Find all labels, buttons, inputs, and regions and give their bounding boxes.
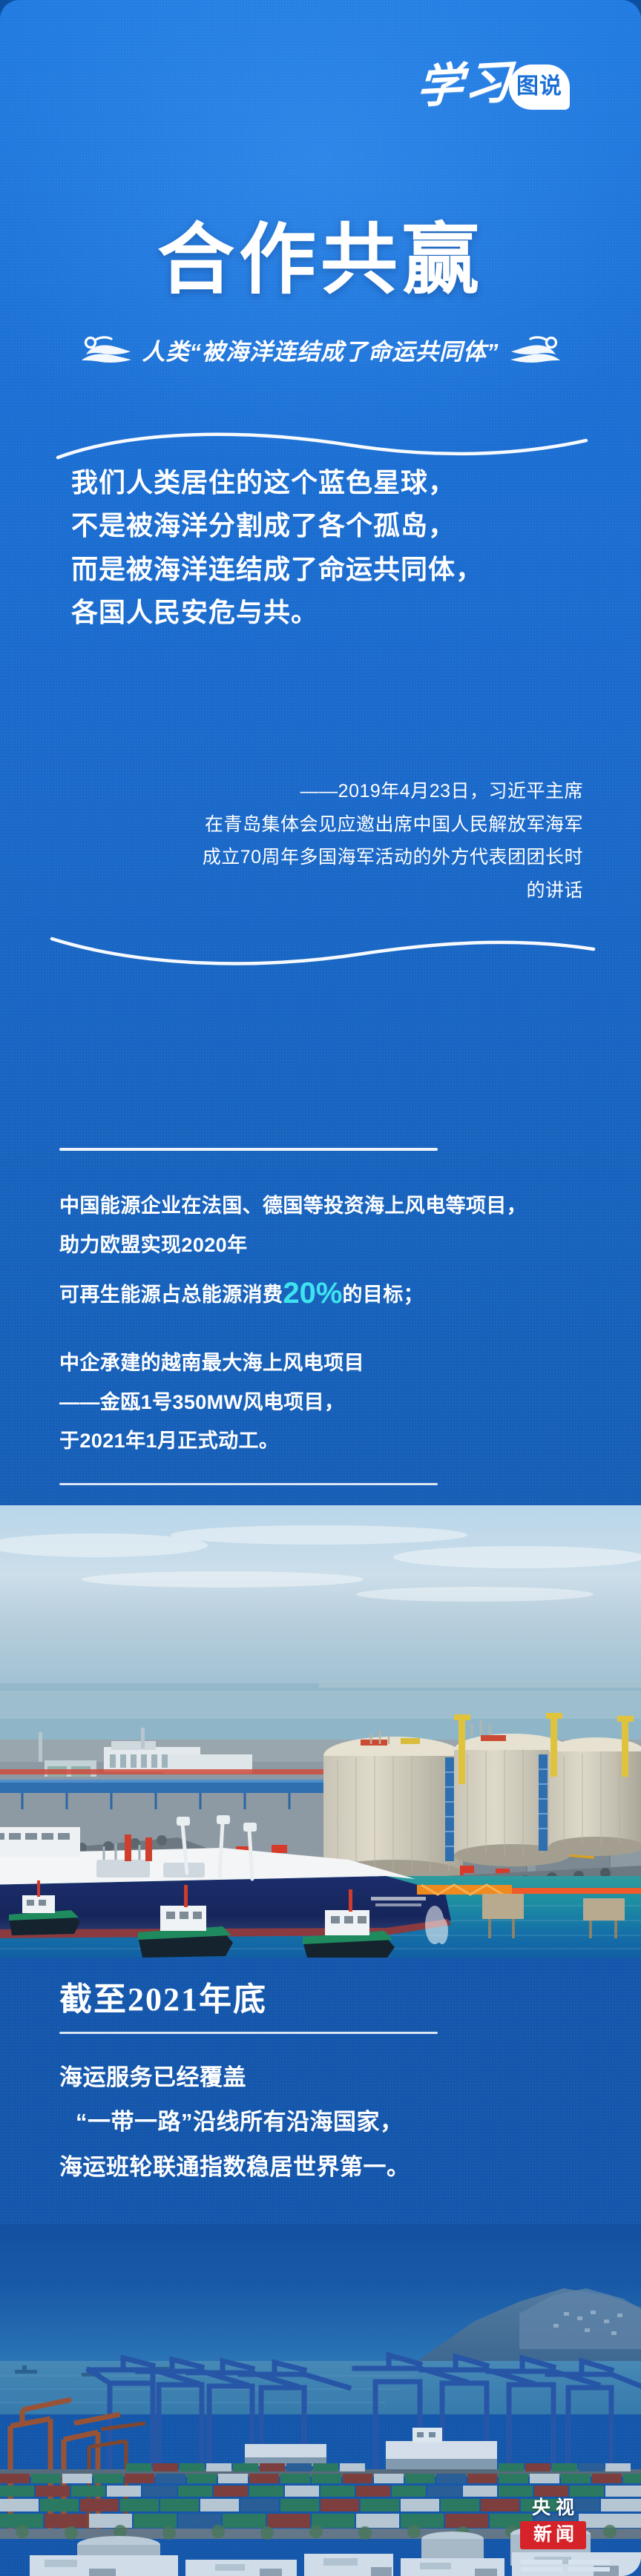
- attribution-line-2: 在青岛集体会见应邀出席中国人民解放军海军: [82, 808, 583, 842]
- attribution-line-1: ——2019年4月23日，习近平主席: [82, 775, 583, 808]
- attribution-line-4: 的讲话: [82, 874, 583, 908]
- stats-p2-line-3: 于2021年1月正式动工。: [59, 1421, 594, 1461]
- quote-line-4: 各国人民安危与共。: [71, 591, 591, 634]
- stats-p1-line-2: 助力欧盟实现2020年: [59, 1226, 594, 1265]
- stats-p1-line-1: 中国能源企业在法国、德国等投资海上风电等项目，: [59, 1186, 594, 1226]
- lng-terminal-photo: [0, 1505, 641, 1958]
- stats-p1-line-3: 可再生能源占总能源消费20%的目标；: [59, 1264, 594, 1322]
- brand-logo: 学习 图说: [417, 62, 570, 111]
- brand-badge-text: 图说: [509, 65, 570, 110]
- cctv-logo-top-text: 央视: [527, 2499, 579, 2517]
- wave-divider-top: [0, 424, 641, 465]
- quote-block: 我们人类居住的这个蓝色星球， 不是被海洋分割成了各个孤岛， 而是被海洋连结成了命…: [71, 461, 591, 634]
- attribution-line-3: 成立70周年多国海军活动的外方代表团团长时: [82, 841, 583, 874]
- stats-p2-line-2: ——金瓯1号350MW风电项目，: [59, 1383, 594, 1422]
- poster-root: 学习 图说 合作共赢 人类“被海洋连结成了命运共同体”: [0, 0, 641, 2576]
- closing-body: 海运服务已经覆盖 “一带一路”沿线所有沿海国家， 海运班轮联通指数稳居世界第一。: [59, 2055, 594, 2190]
- attribution-block: ——2019年4月23日，习近平主席 在青岛集体会见应邀出席中国人民解放军海军 …: [82, 775, 583, 907]
- stats-top-rule: [59, 1148, 438, 1151]
- stats-p1-line3-after: 的目标；: [342, 1284, 424, 1306]
- cctv-logo-bottom-text: 新闻: [520, 2521, 586, 2549]
- closing-heading: 截至2021年底: [59, 1972, 267, 2020]
- quote-line-2: 不是被海洋分割成了各个孤岛，: [71, 504, 591, 547]
- closing-line-1: 海运服务已经覆盖: [59, 2055, 594, 2100]
- cctv-news-logo: 央视 新闻: [520, 2499, 586, 2549]
- title-wrap: 合作共赢: [0, 222, 641, 300]
- wave-divider-bottom: [0, 927, 641, 975]
- wave-ornament-right-icon: [510, 332, 562, 366]
- wave-ornament-left-icon: [80, 332, 132, 366]
- stats-paragraph-two: 中企承建的越南最大海上风电项目 ——金瓯1号350MW风电项目， 于2021年1…: [59, 1344, 594, 1461]
- closing-rule: [59, 2032, 438, 2034]
- stats-p1-line3-before: 可再生能源占总能源消费: [59, 1284, 283, 1306]
- stats-paragraph-one: 中国能源企业在法国、德国等投资海上风电等项目， 助力欧盟实现2020年 可再生能…: [59, 1186, 594, 1322]
- page-subtitle: 人类“被海洋连结成了命运共同体”: [142, 333, 499, 366]
- quote-line-3: 而是被海洋连结成了命运共同体，: [71, 548, 591, 591]
- stats-bottom-rule: [59, 1483, 438, 1485]
- stats-p2-line-1: 中企承建的越南最大海上风电项目: [59, 1344, 594, 1383]
- closing-heading-text: 截至2021年底: [59, 1981, 267, 2018]
- brand-script-text: 学习: [415, 60, 513, 114]
- subtitle-row: 人类“被海洋连结成了命运共同体”: [0, 332, 641, 366]
- page-title: 合作共赢: [0, 222, 641, 300]
- quote-line-1: 我们人类居住的这个蓝色星球，: [71, 461, 591, 504]
- closing-line-2: “一带一路”沿线所有沿海国家，: [59, 2100, 594, 2144]
- closing-line-3: 海运班轮联通指数稳居世界第一。: [59, 2145, 594, 2190]
- stats-highlight-percent: 20%: [283, 1277, 342, 1310]
